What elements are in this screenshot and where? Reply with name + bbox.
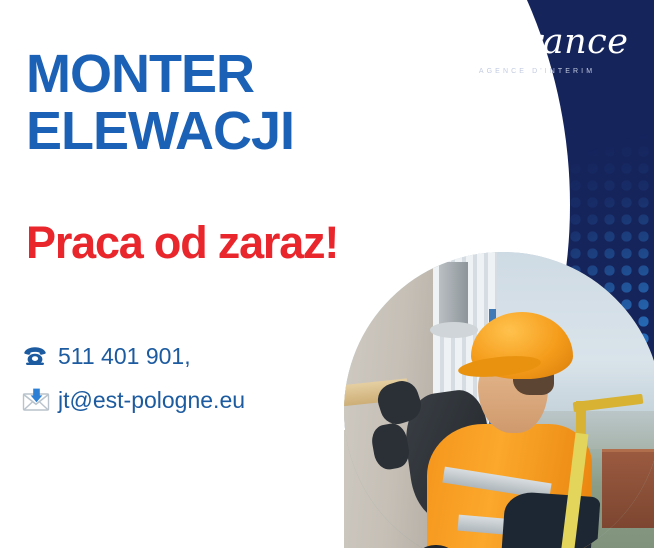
contact-row-email[interactable]: jt@est-pologne.eu (22, 378, 245, 422)
availability-tagline: Praca od zaraz! (26, 218, 338, 268)
photo-rusty-box (602, 449, 654, 528)
headline-line-2: ELEWACJI (26, 103, 294, 160)
headline-line-1: MONTER (26, 46, 294, 103)
logo-tagline: AGENCE D'INTERIM (442, 68, 632, 75)
photo-jacket-shoulder-panel (500, 490, 600, 548)
job-title-headline: MONTER ELEWACJI (26, 46, 294, 160)
envelope-download-icon (22, 388, 58, 412)
worker-photo (344, 252, 654, 548)
logo-wordmark: est-france (442, 20, 632, 64)
email-address: jt@est-pologne.eu (58, 387, 245, 414)
photo-pipe-cap (430, 322, 478, 338)
job-advert-poster: est-france AGENCE D'INTERIM MONTER ELEWA… (0, 0, 654, 548)
contact-list: 511 401 901, jt@est-pologne.eu (22, 334, 245, 422)
company-logo: est-france AGENCE D'INTERIM (442, 20, 632, 75)
photo-overhead-pipe (439, 262, 468, 332)
telephone-icon (22, 345, 58, 367)
contact-row-phone[interactable]: 511 401 901, (22, 334, 245, 378)
phone-number: 511 401 901, (58, 343, 191, 370)
